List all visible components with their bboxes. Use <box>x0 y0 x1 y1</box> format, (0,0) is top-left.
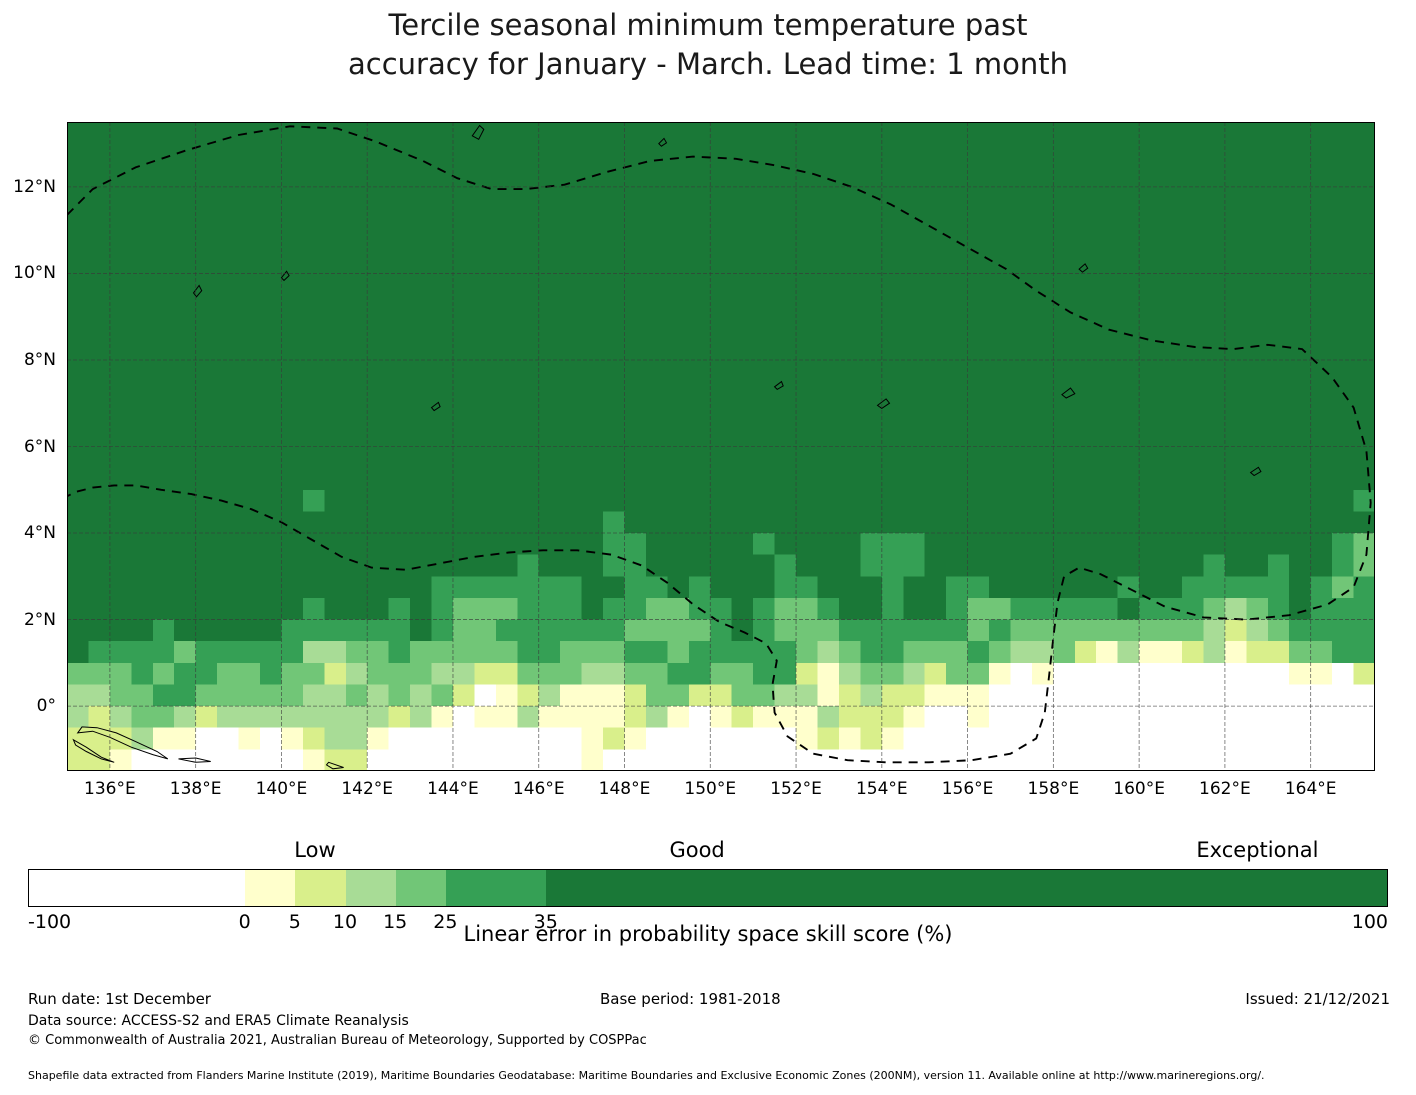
map-plot-area[interactable] <box>67 122 1375 771</box>
data-source-text: Data source: ACCESS-S2 and ERA5 Climate … <box>28 1013 409 1029</box>
latitude-tick-label: 10°N <box>0 263 56 283</box>
latitude-tick-label: 6°N <box>0 437 56 457</box>
longitude-tick-label: 164°E <box>1266 779 1356 799</box>
colorbar-gradient <box>28 869 1388 907</box>
longitude-tick-label: 144°E <box>408 779 498 799</box>
colorbar-segment <box>396 870 446 906</box>
colorbar-segment <box>29 870 245 906</box>
shapefile-attribution-text: Shapefile data extracted from Flanders M… <box>28 1069 1265 1082</box>
latitude-tick-label: 12°N <box>0 177 56 197</box>
latitude-tick-label: 2°N <box>0 610 56 630</box>
longitude-tick-label: 146°E <box>494 779 584 799</box>
latitude-tick-label: 4°N <box>0 523 56 543</box>
colorbar-category-exceptional: Exceptional <box>1196 838 1318 862</box>
longitude-tick-label: 152°E <box>751 779 841 799</box>
longitude-tick-label: 160°E <box>1094 779 1184 799</box>
issued-date-text: Issued: 21/12/2021 <box>1245 990 1390 1008</box>
latitude-tick-label: 8°N <box>0 350 56 370</box>
copyright-text: © Commonwealth of Australia 2021, Austra… <box>28 1033 647 1048</box>
figure-canvas: Tercile seasonal minimum temperature pas… <box>0 0 1416 1095</box>
colorbar-category-low: Low <box>294 838 335 862</box>
longitude-tick-label: 154°E <box>837 779 927 799</box>
longitude-tick-label: 138°E <box>151 779 241 799</box>
longitude-tick-label: 162°E <box>1180 779 1270 799</box>
chart-title: Tercile seasonal minimum temperature pas… <box>0 6 1416 84</box>
colorbar-category-good: Good <box>669 838 724 862</box>
latitude-tick-label: 0° <box>0 696 56 716</box>
base-period-text: Base period: 1981-2018 <box>600 990 781 1008</box>
longitude-tick-label: 158°E <box>1008 779 1098 799</box>
longitude-tick-label: 142°E <box>322 779 412 799</box>
longitude-tick-label: 136°E <box>65 779 155 799</box>
colorbar-segment <box>245 870 295 906</box>
colorbar-segment <box>446 870 546 906</box>
longitude-tick-label: 148°E <box>580 779 670 799</box>
longitude-tick-label: 150°E <box>665 779 755 799</box>
longitude-tick-label: 156°E <box>923 779 1013 799</box>
colorbar-axis-label: Linear error in probability space skill … <box>0 922 1416 946</box>
run-date-text: Run date: 1st December <box>28 990 211 1008</box>
colorbar-segment <box>295 870 345 906</box>
colorbar-segment <box>546 870 1387 906</box>
colorbar-segment <box>346 870 396 906</box>
longitude-tick-label: 140°E <box>236 779 326 799</box>
graticule-gridlines <box>67 122 1375 771</box>
